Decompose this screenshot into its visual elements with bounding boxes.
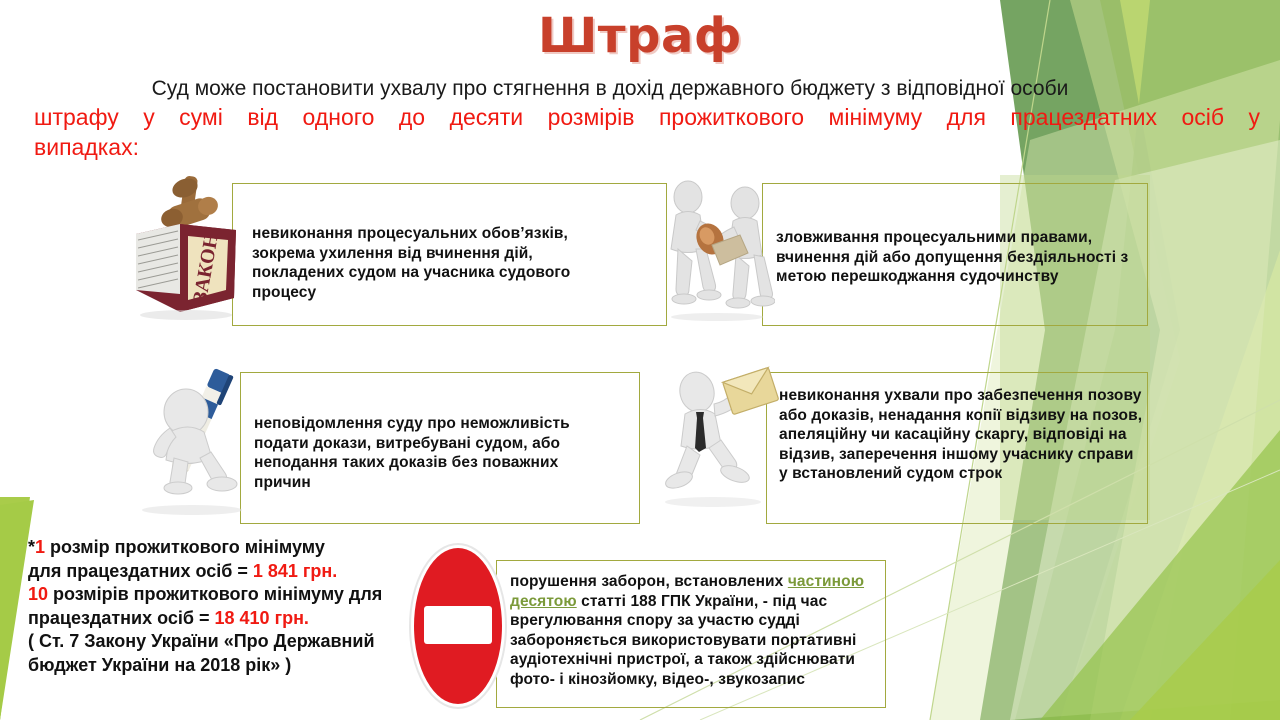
bg-shape-bottom-right2 [1130, 560, 1280, 720]
card-1-text: невиконання процесуальних обов’язків, зо… [252, 224, 612, 302]
note-line-6: бюджет України на 2018 рік» ) [28, 654, 428, 678]
slide-canvas: Штраф Суд може постановити ухвалу про ст… [0, 0, 1280, 720]
intro-line-1: Суд може постановити ухвалу про стягненн… [34, 76, 1266, 102]
note-star: * [28, 537, 35, 557]
card-5-text-before-link: порушення заборон, встановлених [510, 573, 788, 590]
subsistence-minimum-note: *1 розмір прожиткового мінімуму для прац… [28, 536, 428, 677]
note-value-1: 1 [35, 537, 45, 557]
note-line-2: для працездатних осіб = 1 841 грн. [28, 560, 428, 584]
law-book-gavel-icon: ЗАКОН [122, 172, 247, 322]
note-line-5: ( Ст. 7 Закону України «Про Державний [28, 630, 428, 654]
card-4-text: невиконання ухвали про забезпечення позо… [779, 386, 1145, 484]
note-amount-1: 1 841 грн. [253, 561, 337, 581]
page-title: Штраф [0, 8, 1280, 64]
running-figure-envelope-icon [665, 360, 780, 520]
intro-line-3: випадках: [34, 132, 1266, 162]
card-5-text: порушення заборон, встановлених частиною… [510, 572, 878, 689]
note-line-4-pre: працездатних осіб = [28, 608, 215, 628]
intro-line-2: штрафу у сумі від одного до десяти розмі… [34, 102, 1266, 132]
note-value-10: 10 [28, 584, 48, 604]
bg-shape-left-wedge-main [0, 497, 30, 720]
note-line-1-rest: розмір прожиткового мінімуму [45, 537, 325, 557]
note-amount-10: 18 410 грн. [215, 608, 309, 628]
bg-shape-left-wedge [0, 500, 28, 720]
two-figures-fighting-icon [660, 175, 775, 323]
note-line-4: працездатних осіб = 18 410 грн. [28, 607, 428, 631]
note-line-3: 10 розмірів прожиткового мінімуму для [28, 583, 428, 607]
card-3-text: неповідомлення суду про неможливість под… [254, 414, 600, 492]
note-line-3-rest: розмірів прожиткового мінімуму для [48, 584, 382, 604]
note-line-1: *1 розмір прожиткового мінімуму [28, 536, 428, 560]
intro-paragraph: Суд може постановити ухвалу про стягненн… [34, 76, 1266, 162]
card-2-text: зловживання процесуальними правами, вчин… [776, 228, 1148, 287]
note-line-2-pre: для працездатних осіб = [28, 561, 253, 581]
figure-with-pen-icon [130, 358, 255, 520]
